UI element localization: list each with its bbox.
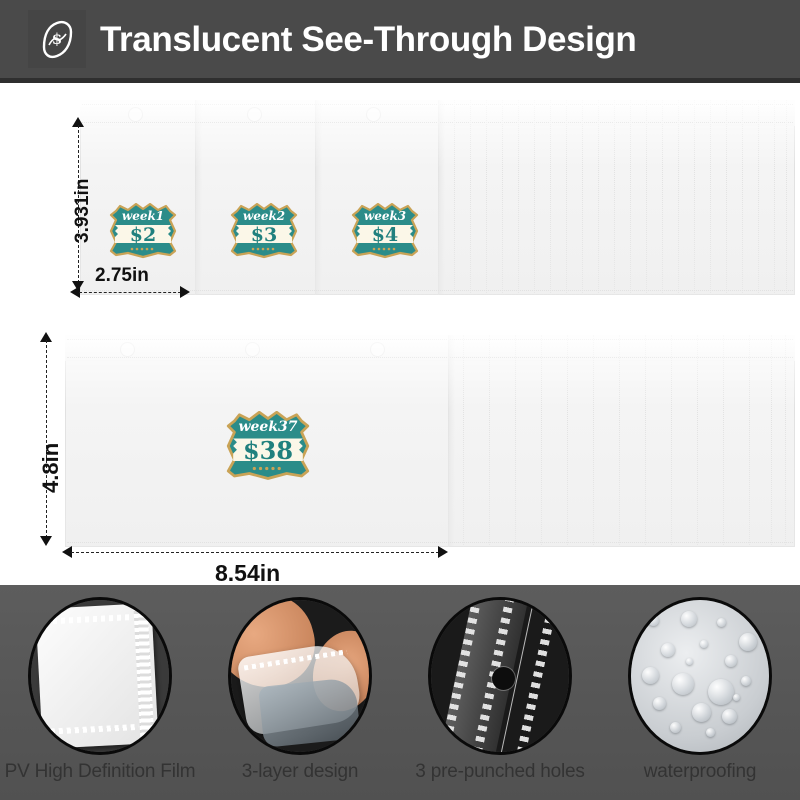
badge-amount-text: $3 <box>227 226 301 245</box>
money-bill-icon: $ <box>28 10 86 68</box>
feature-item: 3 pre-punched holes <box>400 593 600 800</box>
header-title: Translucent See-Through Design <box>100 22 636 57</box>
punch-hole <box>245 342 260 357</box>
large-pocket-sheet: week37 $38 <box>65 335 795 547</box>
badge-week-text: week37 <box>222 420 314 434</box>
punch-hole <box>492 667 515 690</box>
feature-caption: PV High Definition Film <box>0 761 200 783</box>
dimension-height-small-label: 3.931in <box>72 179 94 243</box>
badge-week-text: week3 <box>348 210 422 222</box>
feature-strip: PV High Definition Film 3-layer design <box>0 585 800 800</box>
badge-week-text: week2 <box>227 210 301 222</box>
feature-caption: waterproofing <box>600 761 800 783</box>
punched-holes-photo <box>428 597 572 755</box>
feature-item: waterproofing <box>600 593 800 800</box>
dimension-width-large-label: 8.54in <box>215 560 280 587</box>
week-label-badge: week3 $4 <box>348 203 422 259</box>
feature-caption: 3-layer design <box>200 761 400 783</box>
punch-hole <box>366 107 381 122</box>
punch-hole <box>128 107 143 122</box>
badge-amount-text: $4 <box>348 226 422 245</box>
dimension-width-small-label: 2.75in <box>95 265 149 287</box>
water-droplets-photo <box>628 597 772 755</box>
feature-item: 3-layer design <box>200 593 400 800</box>
white-film-sheet-photo <box>28 597 172 755</box>
feature-item: PV High Definition Film <box>0 593 200 800</box>
badge-week-text: week1 <box>106 210 180 222</box>
product-stage: week1 $2 week2 $3 <box>0 83 800 583</box>
badge-amount-text: $38 <box>222 439 314 463</box>
feature-caption: 3 pre-punched holes <box>400 761 600 783</box>
punch-hole <box>370 342 385 357</box>
header-banner: $ Translucent See-Through Design <box>0 0 800 78</box>
hand-holding-pocket-photo <box>228 597 372 755</box>
dimension-height-large-label: 4.8in <box>38 443 64 493</box>
week-label-badge: week1 $2 <box>106 203 180 259</box>
product-infographic: $ Translucent See-Through Design <box>0 0 800 800</box>
punch-hole <box>247 107 262 122</box>
svg-text:$: $ <box>52 30 62 48</box>
badge-amount-text: $2 <box>106 226 180 245</box>
binder-punch-strip <box>65 335 795 361</box>
week-label-badge: week37 $38 <box>222 411 314 481</box>
punch-hole <box>120 342 135 357</box>
small-pocket-sheet: week1 $2 week2 $3 <box>80 100 795 295</box>
week-label-badge: week2 $3 <box>227 203 301 259</box>
